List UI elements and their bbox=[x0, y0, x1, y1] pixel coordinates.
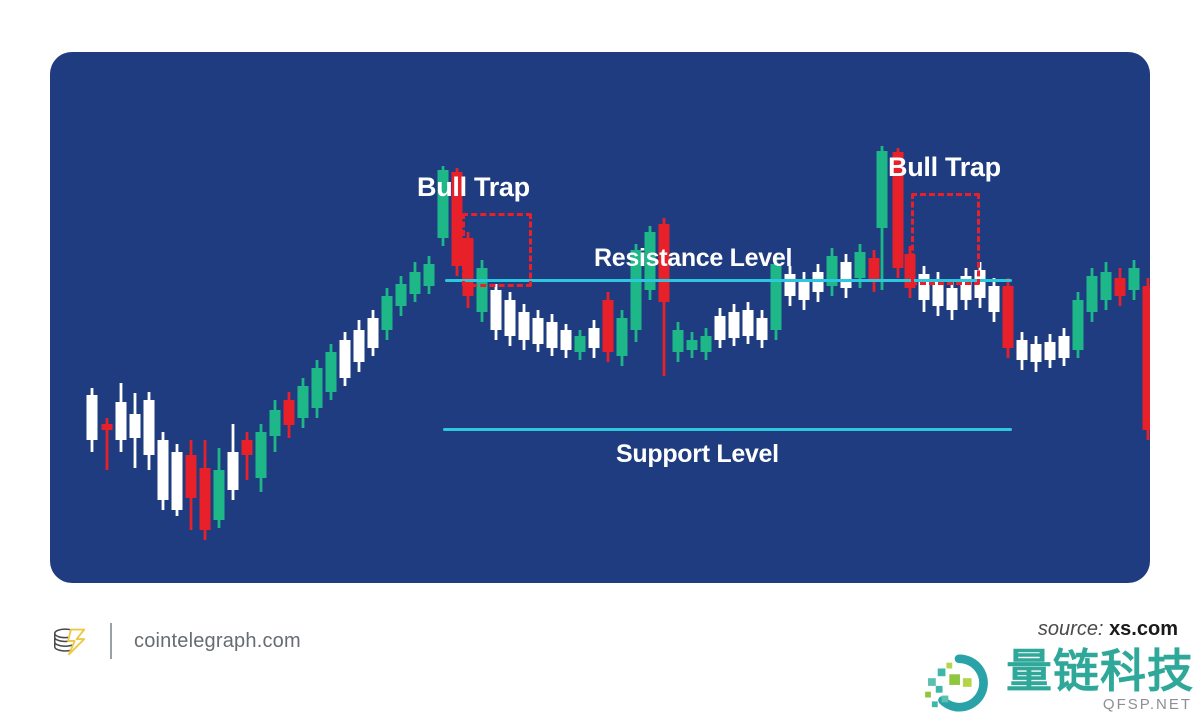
candle bbox=[589, 320, 600, 358]
resistance-level-label: Resistance Level bbox=[594, 244, 792, 273]
candle bbox=[491, 284, 502, 340]
qfsp-watermark: 量链科技 QFSP.NET bbox=[920, 648, 1194, 713]
candle bbox=[519, 304, 530, 350]
qfsp-logo-icon bbox=[920, 653, 998, 713]
candle bbox=[158, 432, 169, 510]
candle bbox=[1059, 328, 1070, 366]
candle bbox=[382, 288, 393, 340]
candle bbox=[989, 278, 1000, 322]
candle bbox=[1045, 334, 1056, 368]
candle bbox=[533, 310, 544, 352]
candlestick-chart bbox=[50, 52, 1150, 583]
candle bbox=[424, 256, 435, 294]
candle bbox=[186, 440, 197, 530]
bull-trap-box-2 bbox=[911, 193, 980, 285]
candle bbox=[947, 280, 958, 320]
candle bbox=[270, 400, 281, 452]
qfsp-english-name: QFSP.NET bbox=[1103, 696, 1192, 713]
candle bbox=[354, 320, 365, 372]
candle bbox=[757, 310, 768, 348]
candle bbox=[547, 314, 558, 356]
candle bbox=[144, 392, 155, 470]
candle bbox=[410, 262, 421, 302]
chart-panel: Bull Trap Bull Trap Resistance Level Sup… bbox=[50, 52, 1150, 583]
candle bbox=[841, 254, 852, 298]
candle bbox=[1129, 260, 1140, 300]
candle bbox=[1031, 336, 1042, 372]
candle bbox=[116, 383, 127, 452]
footer-divider bbox=[110, 623, 112, 659]
candle bbox=[172, 444, 183, 516]
candle bbox=[869, 250, 880, 292]
candle bbox=[284, 392, 295, 438]
candle bbox=[715, 308, 726, 348]
bull-trap-label-2: Bull Trap bbox=[888, 152, 1001, 183]
cointelegraph-coin-icon bbox=[50, 622, 88, 660]
candle bbox=[1003, 278, 1014, 358]
candle bbox=[256, 424, 267, 492]
candle bbox=[575, 330, 586, 360]
candle bbox=[326, 344, 337, 400]
candle bbox=[340, 332, 351, 386]
qfsp-chinese-name: 量链科技 bbox=[1006, 648, 1194, 694]
source-credit: source: xs.com bbox=[1038, 618, 1178, 641]
candle bbox=[701, 328, 712, 360]
candle bbox=[1017, 332, 1028, 370]
candle bbox=[1115, 268, 1126, 306]
bull-trap-box-1 bbox=[462, 213, 532, 287]
candle bbox=[561, 324, 572, 358]
candle bbox=[130, 393, 141, 468]
candle bbox=[673, 322, 684, 362]
candle bbox=[505, 292, 516, 346]
candle bbox=[228, 424, 239, 500]
candle bbox=[396, 276, 407, 316]
source-name: xs.com bbox=[1109, 618, 1178, 640]
candle bbox=[242, 432, 253, 480]
candle bbox=[827, 248, 838, 296]
candle bbox=[617, 310, 628, 366]
cointelegraph-domain: cointelegraph.com bbox=[134, 630, 301, 653]
candle bbox=[659, 218, 670, 376]
candle bbox=[312, 360, 323, 418]
candle bbox=[368, 310, 379, 356]
candle bbox=[87, 388, 98, 452]
candle bbox=[1087, 268, 1098, 322]
candle bbox=[298, 378, 309, 428]
qfsp-text-block: 量链科技 QFSP.NET bbox=[1006, 648, 1194, 713]
candle bbox=[214, 448, 225, 528]
source-prefix: source: bbox=[1038, 618, 1104, 640]
support-level-label: Support Level bbox=[616, 440, 779, 469]
candle bbox=[603, 292, 614, 362]
candle bbox=[102, 418, 113, 470]
candle bbox=[1073, 292, 1084, 358]
candle bbox=[799, 272, 810, 310]
candle bbox=[200, 440, 211, 540]
candle bbox=[813, 264, 824, 302]
support-level-line bbox=[443, 428, 1012, 431]
candle bbox=[687, 332, 698, 358]
cointelegraph-brand: cointelegraph.com bbox=[50, 622, 301, 660]
bull-trap-label-1: Bull Trap bbox=[417, 172, 530, 203]
candle bbox=[743, 302, 754, 344]
candle bbox=[1101, 262, 1112, 310]
candle bbox=[729, 304, 740, 346]
candle bbox=[1143, 278, 1151, 440]
footer: cointelegraph.com source: xs.com 量链科技 QF… bbox=[0, 600, 1200, 716]
